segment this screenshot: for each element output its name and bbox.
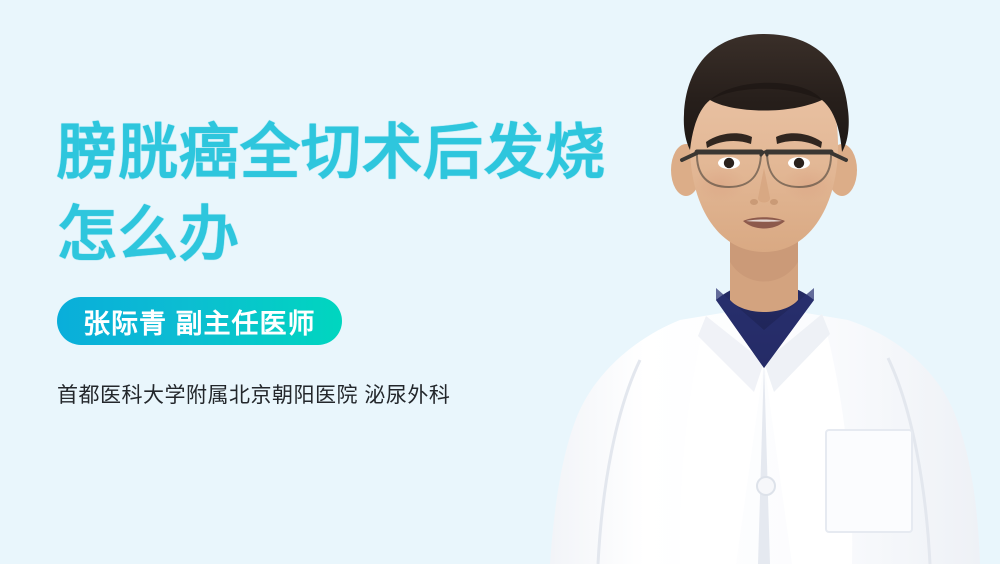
video-cover: 膀胱癌全切术后发烧 怎么办 张际青 副主任医师 首都医科大学附属北京朝阳医院 泌… xyxy=(0,0,1000,564)
text-column: 膀胱癌全切术后发烧 怎么办 张际青 副主任医师 首都医科大学附属北京朝阳医院 泌… xyxy=(57,0,657,564)
page-title: 膀胱癌全切术后发烧 怎么办 xyxy=(57,112,657,276)
eye-left xyxy=(724,158,734,168)
coat-button xyxy=(757,477,775,495)
eye-right xyxy=(794,158,804,168)
coat-pocket xyxy=(826,430,912,532)
doctor-credential-badge: 张际青 副主任医师 xyxy=(57,297,342,345)
doctor-affiliation: 首都医科大学附属北京朝阳医院 泌尿外科 xyxy=(57,379,450,409)
